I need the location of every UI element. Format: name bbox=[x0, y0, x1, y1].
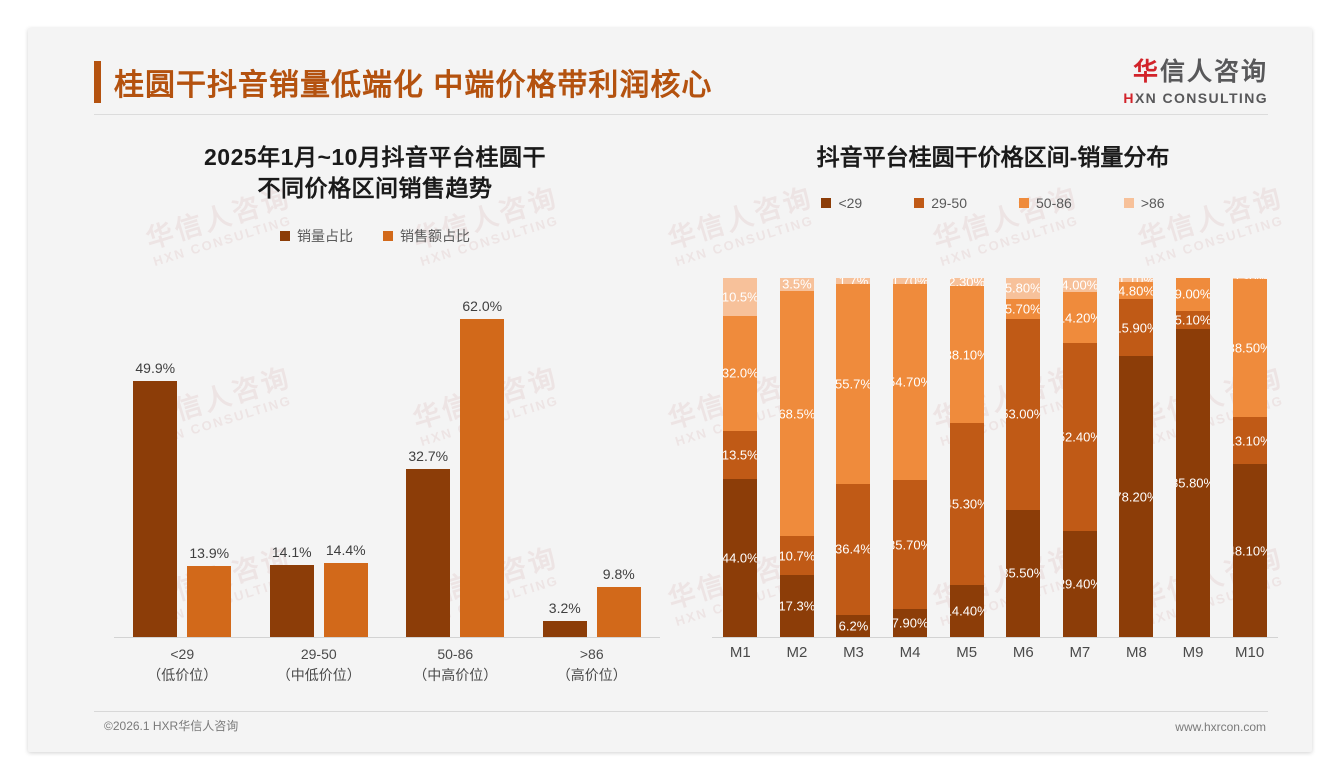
stack-segment-clip: 13.5% bbox=[723, 431, 757, 479]
x-tick-M8: M8 bbox=[1108, 644, 1165, 661]
right-chart-legend-item-3[interactable]: >86 bbox=[1124, 195, 1165, 211]
stack-segment-29-50[interactable]: 10.7% bbox=[780, 536, 814, 574]
stack-segment-<29[interactable]: 78.20% bbox=[1119, 356, 1153, 637]
x-tick-range: >86 bbox=[524, 644, 661, 665]
stack-segment-label: 38.50% bbox=[1233, 341, 1267, 356]
bar-rect bbox=[543, 621, 587, 637]
title-accent-bar bbox=[94, 61, 101, 103]
stack-segment-clip: 68.5% bbox=[780, 291, 814, 537]
stack-segment-label: 2.30% bbox=[950, 278, 984, 286]
x-tick-M3: M3 bbox=[825, 644, 882, 661]
stack-segment-label: 6.2% bbox=[839, 618, 869, 633]
x-tick-M4: M4 bbox=[882, 644, 939, 661]
left-chart-title-line1: 2025年1月~10月抖音平台桂圆干 bbox=[70, 142, 680, 173]
stack-segment-label: 48.10% bbox=[1233, 543, 1267, 558]
stack-segment-29-50[interactable]: 35.70% bbox=[893, 480, 927, 608]
legend-swatch-icon bbox=[914, 198, 924, 208]
stack-segment-clip: 5.70% bbox=[1006, 299, 1040, 319]
header-divider bbox=[94, 114, 1268, 115]
bar-value-label: 14.1% bbox=[272, 544, 312, 560]
x-tick-sublabel: （高价位） bbox=[524, 665, 661, 686]
stack-segment-29-50[interactable]: 13.10% bbox=[1233, 417, 1267, 464]
x-tick-range: 50-86 bbox=[387, 644, 524, 665]
stack-segment-label: 17.3% bbox=[780, 598, 814, 613]
stack-segment-label: 53.00% bbox=[1006, 407, 1040, 422]
slide-header: 桂圆干抖音销量低端化 中端价格带利润核心 华信人咨询 HXN CONSULTIN… bbox=[28, 28, 1312, 114]
logo-english-rest: XN CONSULTING bbox=[1135, 90, 1268, 106]
bar-<29-销量占比[interactable]: 49.9% bbox=[133, 278, 177, 637]
stack-segment-<29[interactable]: 7.90% bbox=[893, 609, 927, 637]
stack-segment-clip: 29.40% bbox=[1063, 531, 1097, 637]
stack-segment->86[interactable]: 4.00% bbox=[1063, 278, 1097, 292]
stack-column-M3: 1.7%55.7%36.4%6.2% bbox=[825, 278, 882, 637]
stack-segment-label: 55.7% bbox=[836, 377, 870, 392]
right-chart-title-line1: 抖音平台桂圆干价格区间-销量分布 bbox=[688, 142, 1298, 173]
stack-segment-clip: 10.7% bbox=[780, 536, 814, 574]
stack-segment-clip: 4.00% bbox=[1063, 278, 1097, 292]
stack-segment-clip: 52.40% bbox=[1063, 343, 1097, 531]
bar-50-86-销量占比[interactable]: 32.7% bbox=[406, 278, 450, 637]
stack-segment-label: 15.90% bbox=[1119, 320, 1153, 335]
right-chart-title: 抖音平台桂圆干价格区间-销量分布 bbox=[688, 128, 1298, 173]
stack-segment->86[interactable]: 3.5% bbox=[780, 278, 814, 291]
stack-segment-<29[interactable]: 44.0% bbox=[723, 479, 757, 637]
stack-segment-label: 85.80% bbox=[1176, 475, 1210, 490]
stack-segment-<29[interactable]: 17.3% bbox=[780, 575, 814, 637]
x-tick-50-86: 50-86（中高价位） bbox=[387, 644, 524, 686]
stack-segment-label: 29.40% bbox=[1063, 577, 1097, 592]
bar-rect bbox=[187, 566, 231, 637]
stack-segment-clip: 78.20% bbox=[1119, 356, 1153, 637]
stack-segment-clip: 2.30% bbox=[950, 278, 984, 286]
page-title: 桂圆干抖音销量低端化 中端价格带利润核心 bbox=[114, 60, 712, 104]
stack-segment-label: 44.0% bbox=[723, 550, 757, 565]
stack-segment-29-50[interactable]: 53.00% bbox=[1006, 319, 1040, 509]
bar-29-50-销量占比[interactable]: 14.1% bbox=[270, 278, 314, 637]
stack-segment-label: 54.70% bbox=[893, 375, 927, 390]
bar-value-label: 3.2% bbox=[549, 600, 581, 616]
right-chart-legend-item-2[interactable]: 50-86 bbox=[1019, 195, 1072, 211]
stack-segment-label: 5.80% bbox=[1006, 281, 1040, 296]
stack-segment-label: 4.00% bbox=[1063, 278, 1097, 292]
x-tick-M7: M7 bbox=[1052, 644, 1109, 661]
right-chart-x-axis bbox=[712, 637, 1278, 638]
stack-segment-label: 13.5% bbox=[723, 447, 757, 462]
stack-segment->86[interactable]: 10.5% bbox=[723, 278, 757, 316]
bar-value-label: 13.9% bbox=[189, 545, 229, 561]
left-chart-legend-item-0[interactable]: 销量占比 bbox=[280, 226, 353, 246]
bar-group-<29: 49.9%13.9% bbox=[114, 278, 251, 637]
stack-segment-29-50[interactable]: 52.40% bbox=[1063, 343, 1097, 531]
stack-segment-clip: 10.5% bbox=[723, 278, 757, 316]
stack-segment->86[interactable]: 2.30% bbox=[950, 278, 984, 286]
stack-segment-<29[interactable]: 48.10% bbox=[1233, 464, 1267, 637]
logo-chinese: 华信人咨询 bbox=[1123, 60, 1268, 85]
bar-50-86-销售额占比[interactable]: 62.0% bbox=[460, 278, 504, 637]
bar-rect bbox=[597, 587, 641, 637]
brand-logo: 华信人咨询 HXN CONSULTING bbox=[1123, 60, 1268, 105]
left-chart-x-axis bbox=[114, 637, 660, 638]
stack-segment-label: 14.20% bbox=[1063, 310, 1097, 325]
right-chart-legend-item-1[interactable]: 29-50 bbox=[914, 195, 967, 211]
stack-segment-label: 5.70% bbox=[1006, 302, 1040, 317]
bar-value-label: 49.9% bbox=[135, 360, 175, 376]
stacked-bar-M7[interactable]: 4.00%14.20%52.40%29.40% bbox=[1063, 278, 1097, 637]
stack-segment-label: 13.10% bbox=[1233, 433, 1267, 448]
x-tick-M1: M1 bbox=[712, 644, 769, 661]
x-tick-M5: M5 bbox=[938, 644, 995, 661]
logo-chinese-highlight: 华 bbox=[1133, 58, 1160, 86]
stack-segment-label: 35.70% bbox=[893, 537, 927, 552]
stack-segment-clip: 45.30% bbox=[950, 423, 984, 585]
stack-segment-<29[interactable]: 29.40% bbox=[1063, 531, 1097, 637]
legend-swatch-icon bbox=[280, 231, 290, 241]
footer-copyright: ©2026.1 HXR华信人咨询 bbox=[104, 717, 238, 734]
legend-label: 销售额占比 bbox=[400, 226, 470, 246]
x-tick-sublabel: （中低价位） bbox=[251, 665, 388, 686]
stack-segment-label: 36.4% bbox=[836, 542, 870, 557]
right-chart-x-labels: M1M2M3M4M5M6M7M8M9M10 bbox=[712, 644, 1278, 661]
stack-segment-clip: 9.00% bbox=[1176, 278, 1210, 310]
stack-segment-50-86[interactable]: 5.70% bbox=[1006, 299, 1040, 319]
stack-segment-50-86[interactable]: 4.80% bbox=[1119, 282, 1153, 299]
legend-swatch-icon bbox=[821, 198, 831, 208]
stack-segment-label: 3.5% bbox=[782, 278, 812, 291]
stack-segment-clip: 14.40% bbox=[950, 585, 984, 637]
stack-segment-<29[interactable]: 35.50% bbox=[1006, 510, 1040, 637]
left-chart-legend-item-1[interactable]: 销售额占比 bbox=[383, 226, 470, 246]
stack-segment-clip: 5.80% bbox=[1006, 278, 1040, 299]
stack-segment-clip: 44.0% bbox=[723, 479, 757, 637]
bar-rect bbox=[270, 565, 314, 637]
stack-segment-clip: 38.10% bbox=[950, 286, 984, 423]
stack-segment-clip: 85.80% bbox=[1176, 329, 1210, 637]
stack-segment-<29[interactable]: 85.80% bbox=[1176, 329, 1210, 637]
stack-segment-50-86[interactable]: 9.00% bbox=[1176, 278, 1210, 310]
stacked-bar-M4[interactable]: 1.70%54.70%35.70%7.90% bbox=[893, 278, 927, 637]
x-tick-sublabel: （低价位） bbox=[114, 665, 251, 686]
stack-segment-label: 7.90% bbox=[893, 615, 927, 630]
stack-segment-50-86[interactable]: 55.7% bbox=[836, 284, 870, 484]
right-chart-legend-item-0[interactable]: <29 bbox=[821, 195, 862, 211]
stack-segment-29-50[interactable]: 15.90% bbox=[1119, 299, 1153, 356]
stack-segment-label: 14.40% bbox=[950, 604, 984, 619]
stack-segment-50-86[interactable]: 14.20% bbox=[1063, 292, 1097, 343]
stack-segment-label: 32.0% bbox=[723, 366, 757, 381]
stack-segment-clip: 53.00% bbox=[1006, 319, 1040, 509]
bar-value-label: 32.7% bbox=[408, 448, 448, 464]
stack-column-M9: 0.10%9.00%5.10%85.80% bbox=[1165, 278, 1222, 637]
x-tick->86: >86（高价位） bbox=[524, 644, 661, 686]
stack-segment-clip: 55.7% bbox=[836, 284, 870, 484]
left-chart-bar-groups: 49.9%13.9%14.1%14.4%32.7%62.0%3.2%9.8% bbox=[114, 278, 660, 637]
stack-column-M5: 2.30%38.10%45.30%14.40% bbox=[938, 278, 995, 637]
panel-grouped-bar-chart: 2025年1月~10月抖音平台桂圆干 不同价格区间销售趋势 销量占比销售额占比 … bbox=[70, 128, 680, 728]
bar-<29-销售额占比[interactable]: 13.9% bbox=[187, 278, 231, 637]
stack-segment-29-50[interactable]: 13.5% bbox=[723, 431, 757, 479]
stack-segment-clip: 6.2% bbox=[836, 615, 870, 637]
legend-swatch-icon bbox=[1124, 198, 1134, 208]
left-chart-x-labels: <29（低价位）29-50（中低价位）50-86（中高价位）>86（高价位） bbox=[114, 644, 660, 686]
bar-rect bbox=[460, 319, 504, 637]
stack-segment-label: 9.00% bbox=[1176, 287, 1210, 302]
stack-segment-29-50[interactable]: 45.30% bbox=[950, 423, 984, 585]
stack-segment-clip: 7.90% bbox=[893, 609, 927, 637]
stacked-bar-M9[interactable]: 0.10%9.00%5.10%85.80% bbox=[1176, 278, 1210, 637]
stack-segment-clip: 36.4% bbox=[836, 484, 870, 615]
legend-swatch-icon bbox=[1019, 198, 1029, 208]
stack-segment-clip: 48.10% bbox=[1233, 464, 1267, 637]
legend-label: 销量占比 bbox=[297, 226, 353, 246]
stack-segment-50-86[interactable]: 54.70% bbox=[893, 284, 927, 480]
stack-segment-50-86[interactable]: 68.5% bbox=[780, 291, 814, 537]
bar-rect bbox=[324, 563, 368, 637]
stack-segment-50-86[interactable]: 38.50% bbox=[1233, 279, 1267, 417]
stack-segment-50-86[interactable]: 32.0% bbox=[723, 316, 757, 431]
stack-segment-clip: 35.70% bbox=[893, 480, 927, 608]
stack-segment-label: 68.5% bbox=[780, 406, 814, 421]
bar-value-label: 62.0% bbox=[462, 298, 502, 314]
stack-segment-clip: 38.50% bbox=[1233, 279, 1267, 417]
legend-swatch-icon bbox=[383, 231, 393, 241]
x-tick-sublabel: （中高价位） bbox=[387, 665, 524, 686]
stack-segment-label: 52.40% bbox=[1063, 430, 1097, 445]
x-tick-29-50: 29-50（中低价位） bbox=[251, 644, 388, 686]
bar-group-50-86: 32.7%62.0% bbox=[387, 278, 524, 637]
stack-segment-<29[interactable]: 6.2% bbox=[836, 615, 870, 637]
x-tick-<29: <29（低价位） bbox=[114, 644, 251, 686]
bar-value-label: 9.8% bbox=[603, 566, 635, 582]
stacked-bar-M8[interactable]: 1.10%4.80%15.90%78.20% bbox=[1119, 278, 1153, 637]
stack-segment-clip: 4.80% bbox=[1119, 282, 1153, 299]
stack-segment-label: 38.10% bbox=[950, 347, 984, 362]
slide-canvas: 桂圆干抖音销量低端化 中端价格带利润核心 华信人咨询 HXN CONSULTIN… bbox=[28, 28, 1312, 752]
bar-rect bbox=[406, 469, 450, 637]
right-chart-stacked-bars: 10.5%32.0%13.5%44.0%3.5%68.5%10.7%17.3%1… bbox=[712, 278, 1278, 637]
stack-segment-label: 4.80% bbox=[1119, 283, 1153, 298]
stacked-bar-M5[interactable]: 2.30%38.10%45.30%14.40% bbox=[950, 278, 984, 637]
stack-segment-29-50[interactable]: 36.4% bbox=[836, 484, 870, 615]
stack-segment-clip: 13.10% bbox=[1233, 417, 1267, 464]
right-chart-plot-area: 10.5%32.0%13.5%44.0%3.5%68.5%10.7%17.3%1… bbox=[712, 278, 1278, 638]
stack-segment->86[interactable]: 5.80% bbox=[1006, 278, 1040, 299]
stack-segment-label: 35.50% bbox=[1006, 566, 1040, 581]
x-tick-M9: M9 bbox=[1165, 644, 1222, 661]
stack-segment-<29[interactable]: 14.40% bbox=[950, 585, 984, 637]
right-chart-legend: <2929-5050-86>86 bbox=[688, 195, 1298, 211]
stack-segment-50-86[interactable]: 38.10% bbox=[950, 286, 984, 423]
stack-column-M8: 1.10%4.80%15.90%78.20% bbox=[1108, 278, 1165, 637]
stack-segment-label: 10.5% bbox=[723, 289, 757, 304]
stack-segment-clip: 15.90% bbox=[1119, 299, 1153, 356]
legend-label: 29-50 bbox=[931, 195, 967, 211]
stack-segment-clip: 35.50% bbox=[1006, 510, 1040, 637]
x-tick-M10: M10 bbox=[1221, 644, 1278, 661]
bar-rect bbox=[133, 381, 177, 637]
left-chart-plot-area: 49.9%13.9%14.1%14.4%32.7%62.0%3.2%9.8% bbox=[114, 278, 660, 638]
bar-value-label: 14.4% bbox=[326, 542, 366, 558]
x-tick-range: <29 bbox=[114, 644, 251, 665]
bar->86-销售额占比[interactable]: 9.8% bbox=[597, 278, 641, 637]
bar-29-50-销售额占比[interactable]: 14.4% bbox=[324, 278, 368, 637]
logo-chinese-rest: 信人咨询 bbox=[1160, 58, 1268, 86]
stack-segment-clip: 5.10% bbox=[1176, 311, 1210, 329]
stacked-bar-M3[interactable]: 1.7%55.7%36.4%6.2% bbox=[836, 278, 870, 637]
stack-column-M4: 1.70%54.70%35.70%7.90% bbox=[882, 278, 939, 637]
stack-column-M10: 0.30%38.50%13.10%48.10% bbox=[1221, 278, 1278, 637]
left-chart-title: 2025年1月~10月抖音平台桂圆干 不同价格区间销售趋势 bbox=[70, 128, 680, 204]
stacked-bar-M1[interactable]: 10.5%32.0%13.5%44.0% bbox=[723, 278, 757, 637]
left-chart-title-line2: 不同价格区间销售趋势 bbox=[70, 173, 680, 204]
bar-group-29-50: 14.1%14.4% bbox=[251, 278, 388, 637]
panel-stacked-bar-chart: 抖音平台桂圆干价格区间-销量分布 <2929-5050-86>86 10.5%3… bbox=[688, 128, 1298, 728]
footer-website[interactable]: www.hxrcon.com bbox=[1175, 720, 1266, 734]
x-tick-M2: M2 bbox=[769, 644, 826, 661]
slide-root: 桂圆干抖音销量低端化 中端价格带利润核心 华信人咨询 HXN CONSULTIN… bbox=[0, 0, 1340, 780]
stack-segment-clip: 3.5% bbox=[780, 278, 814, 291]
stack-column-M7: 4.00%14.20%52.40%29.40% bbox=[1052, 278, 1109, 637]
stack-segment-label: 78.20% bbox=[1119, 489, 1153, 504]
bar-group->86: 3.2%9.8% bbox=[524, 278, 661, 637]
legend-label: <29 bbox=[838, 195, 862, 211]
stack-segment-label: 10.7% bbox=[780, 548, 814, 563]
stack-segment-clip: 32.0% bbox=[723, 316, 757, 431]
stack-segment-label: 5.10% bbox=[1176, 312, 1210, 327]
stack-column-M1: 10.5%32.0%13.5%44.0% bbox=[712, 278, 769, 637]
stack-segment-clip: 17.3% bbox=[780, 575, 814, 637]
stacked-bar-M6[interactable]: 5.80%5.70%53.00%35.50% bbox=[1006, 278, 1040, 637]
x-tick-range: 29-50 bbox=[251, 644, 388, 665]
logo-english-highlight: H bbox=[1123, 90, 1135, 106]
bar->86-销量占比[interactable]: 3.2% bbox=[543, 278, 587, 637]
logo-english: HXN CONSULTING bbox=[1123, 91, 1268, 105]
stack-column-M2: 3.5%68.5%10.7%17.3% bbox=[769, 278, 826, 637]
stack-column-M6: 5.80%5.70%53.00%35.50% bbox=[995, 278, 1052, 637]
stack-segment-29-50[interactable]: 5.10% bbox=[1176, 311, 1210, 329]
left-chart-legend: 销量占比销售额占比 bbox=[70, 226, 680, 246]
legend-label: 50-86 bbox=[1036, 195, 1072, 211]
legend-label: >86 bbox=[1141, 195, 1165, 211]
stacked-bar-M2[interactable]: 3.5%68.5%10.7%17.3% bbox=[780, 278, 814, 637]
footer-divider bbox=[94, 711, 1268, 712]
stack-segment-label: 45.30% bbox=[950, 497, 984, 512]
x-tick-M6: M6 bbox=[995, 644, 1052, 661]
stacked-bar-M10[interactable]: 0.30%38.50%13.10%48.10% bbox=[1233, 278, 1267, 637]
stack-segment-clip: 54.70% bbox=[893, 284, 927, 480]
stack-segment-clip: 14.20% bbox=[1063, 292, 1097, 343]
